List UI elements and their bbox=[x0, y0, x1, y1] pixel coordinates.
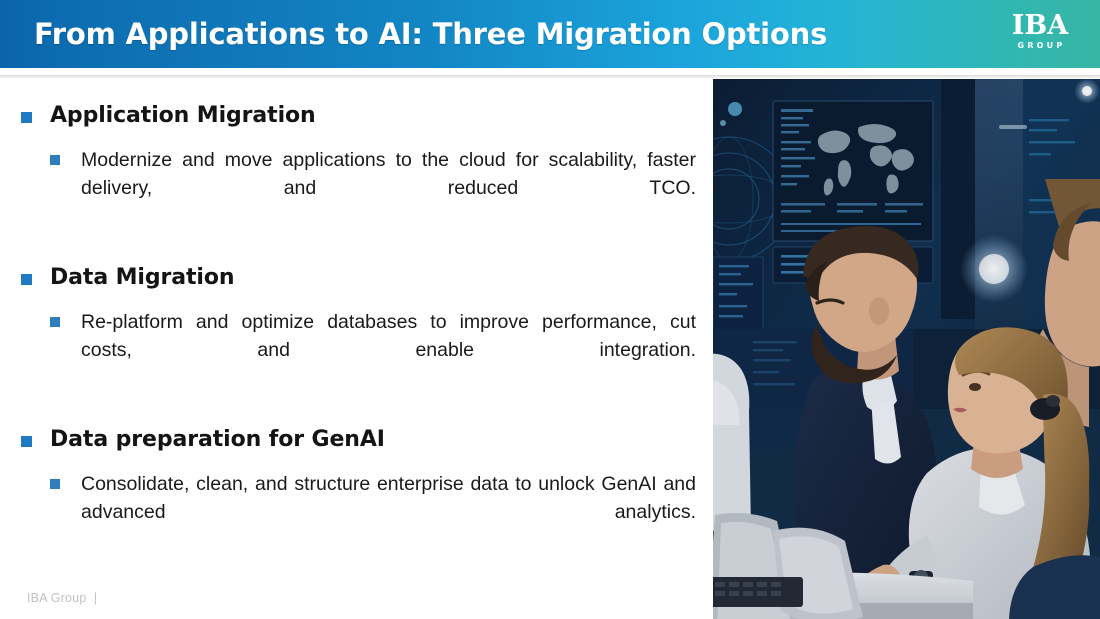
slide-footer: IBA Group | bbox=[27, 591, 97, 605]
bullet-heading-row: Application Migration bbox=[0, 102, 712, 132]
bullet-body-label: Modernize and move applications to the c… bbox=[81, 146, 696, 230]
square-sub-bullet-icon bbox=[50, 155, 60, 165]
page-title: From Applications to AI: Three Migration… bbox=[34, 17, 827, 51]
square-bullet-icon bbox=[21, 436, 32, 447]
bullet-heading-label: Data preparation for GenAI bbox=[50, 427, 385, 452]
square-sub-bullet-icon bbox=[50, 479, 60, 489]
bullet-body-label: Consolidate, clean, and structure enterp… bbox=[81, 470, 696, 554]
bullet-heading-row: Data preparation for GenAI bbox=[0, 426, 712, 456]
bullet-block-data-preparation-genai: Data preparation for GenAI Consolidate, … bbox=[0, 426, 712, 554]
bullet-body-row: Re-platform and optimize databases to im… bbox=[0, 308, 712, 392]
logo-wordmark: IBA bbox=[1002, 12, 1078, 39]
slide: From Applications to AI: Three Migration… bbox=[0, 0, 1100, 619]
content-column: Application Migration Modernize and move… bbox=[0, 86, 712, 556]
bullet-heading-row: Data Migration bbox=[0, 264, 712, 294]
photo-illustration bbox=[713, 79, 1100, 619]
iba-group-logo: IBA GROUP bbox=[1002, 12, 1078, 52]
slide-photo bbox=[713, 79, 1100, 619]
square-bullet-icon bbox=[21, 112, 32, 123]
slide-header: From Applications to AI: Three Migration… bbox=[0, 0, 1100, 68]
bullet-heading-label: Application Migration bbox=[50, 103, 316, 128]
logo-subtext: GROUP bbox=[1002, 40, 1078, 52]
bullet-body-row: Modernize and move applications to the c… bbox=[0, 146, 712, 230]
bullet-body-row: Consolidate, clean, and structure enterp… bbox=[0, 470, 712, 554]
bullet-block-data-migration: Data Migration Re-platform and optimize … bbox=[0, 264, 712, 392]
square-sub-bullet-icon bbox=[50, 317, 60, 327]
bullet-block-application-migration: Application Migration Modernize and move… bbox=[0, 102, 712, 230]
bullet-body-label: Re-platform and optimize databases to im… bbox=[81, 308, 696, 392]
header-divider bbox=[0, 75, 1100, 78]
bullet-heading-label: Data Migration bbox=[50, 265, 234, 290]
square-bullet-icon bbox=[21, 274, 32, 285]
